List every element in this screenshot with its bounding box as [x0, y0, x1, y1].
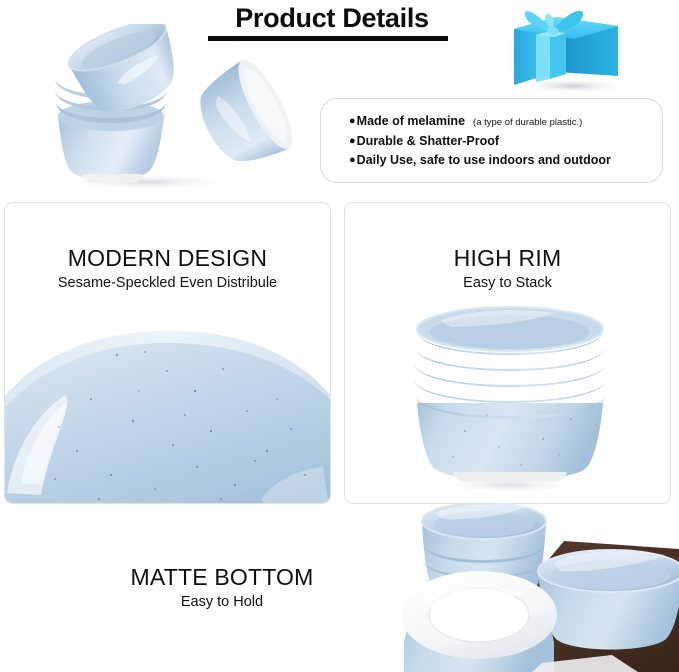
bullet-icon: ●: [349, 115, 356, 127]
feature-list-box: ●Made of melamine(a type of durable plas…: [320, 98, 663, 183]
panel-heading: MODERN DESIGN: [5, 245, 330, 271]
stacked-bowls-image: [395, 299, 625, 499]
bullet-icon: ●: [349, 135, 356, 147]
matte-bottom-heading: MATTE BOTTOM: [52, 564, 392, 591]
feature-text: Daily Use, safe to use indoors and outdo…: [357, 153, 611, 167]
feature-item: ●Made of melamine(a type of durable plas…: [349, 112, 654, 132]
panel-subheading: Easy to Stack: [345, 274, 670, 292]
feature-item: ●Durable & Shatter-Proof: [349, 132, 654, 151]
hero-bowls-image: [28, 24, 293, 194]
matte-bottom-caption: MATTE BOTTOM Easy to Hold: [52, 564, 392, 611]
panel-high-rim: HIGH RIM Easy to Stack: [344, 202, 671, 504]
panel-subheading: Sesame-Speckled Even Distribule: [5, 274, 330, 292]
panel-heading: HIGH RIM: [345, 245, 670, 271]
bowls-on-wood-board-image: [392, 503, 679, 672]
feature-item: ●Daily Use, safe to use indoors and outd…: [349, 151, 654, 170]
feature-text: Durable & Shatter-Proof: [357, 134, 499, 148]
feature-list: ●Made of melamine(a type of durable plas…: [349, 112, 654, 170]
feature-note: (a type of durable plastic.): [473, 117, 582, 128]
speckled-bowl-macro-image: [4, 303, 331, 504]
matte-bottom-subheading: Easy to Hold: [52, 593, 392, 611]
feature-text: Made of melamine: [357, 114, 465, 128]
panel-modern-design: MODERN DESIGN Sesame-Speckled Even Distr…: [4, 202, 331, 504]
bullet-icon: ●: [349, 154, 356, 166]
gift-box-icon: [496, 2, 646, 94]
